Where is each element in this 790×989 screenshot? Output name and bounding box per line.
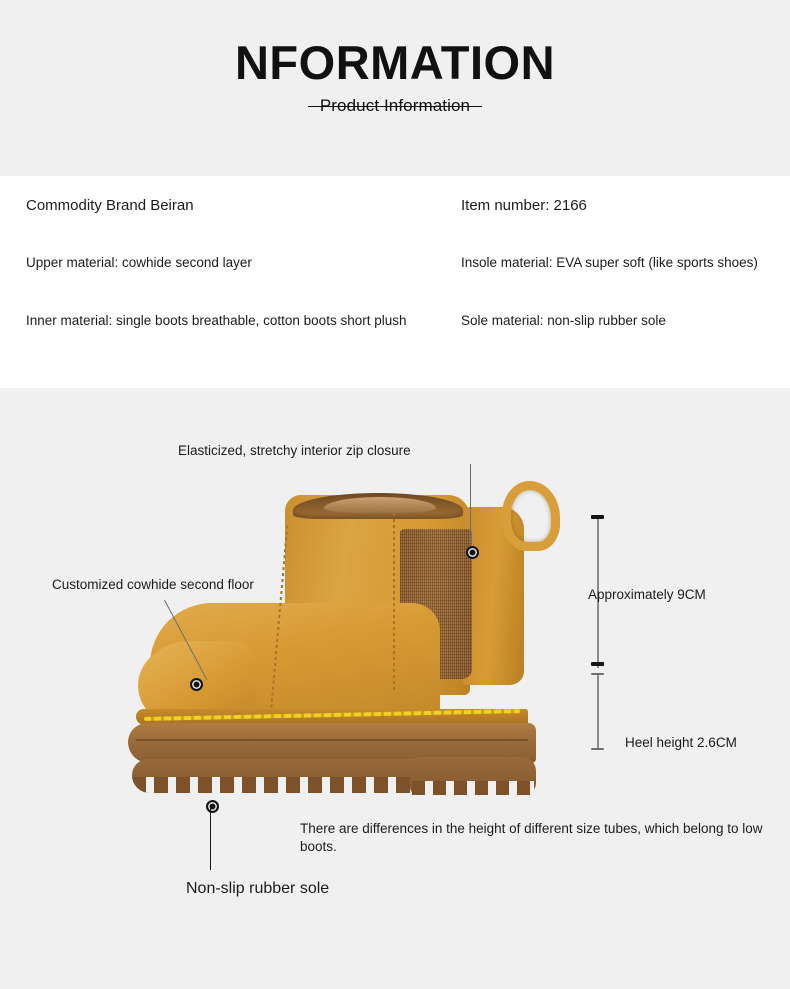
boot-product-image: [110, 473, 570, 833]
measurement-cap-shaft-top: [591, 515, 604, 519]
page-subtitle: Product Information: [308, 96, 482, 116]
annotation-cowhide: Customized cowhide second floor: [52, 576, 254, 594]
annotation-tube-note: There are differences in the height of d…: [300, 820, 770, 856]
page-subtitle-label: Product Information: [320, 96, 470, 115]
spec-inner-material: Inner material: single boots breathable,…: [26, 312, 426, 330]
annotation-zip-closure: Elasticized, stretchy interior zip closu…: [178, 442, 411, 460]
leader-line-zip-closure: [470, 464, 471, 550]
spec-sole-material: Sole material: non-slip rubber sole: [461, 312, 773, 330]
product-spec-table: Commodity Brand Beiran Item number: 2166…: [0, 176, 790, 388]
marker-dot-cowhide: [190, 678, 203, 691]
marker-dot-zip-closure: [466, 546, 479, 559]
boot-midsole-line: [136, 739, 528, 741]
measurement-cap-shaft-bottom: [591, 662, 604, 666]
annotation-rubber-sole: Non-slip rubber sole: [186, 878, 329, 900]
page-subtitle-wrapper: Product Information: [0, 96, 790, 116]
header-band: NFORMATION Product Information: [0, 0, 790, 176]
spec-brand: Commodity Brand Beiran: [26, 196, 426, 216]
measurement-label-heel: Heel height 2.6CM: [625, 735, 737, 750]
measurement-cap-heel-bottom: [591, 748, 604, 750]
marker-dot-rubber-sole: [206, 800, 219, 813]
measurement-line-heel: [597, 674, 599, 750]
spec-upper-material: Upper material: cowhide second layer: [26, 254, 426, 272]
measurement-label-shaft: Approximately 9CM: [588, 587, 706, 602]
measurement-cap-heel-top: [591, 673, 604, 675]
boot-inner-lining: [324, 497, 436, 513]
boot-pull-tab: [502, 481, 560, 551]
spec-insole-material: Insole material: EVA super soft (like sp…: [461, 254, 773, 272]
page-title: NFORMATION: [0, 38, 790, 87]
leader-line-rubber-sole: [210, 808, 211, 870]
boot-seam-stitch: [393, 513, 395, 693]
spec-item-number: Item number: 2166: [461, 196, 773, 216]
boot-heel-lugs: [412, 781, 534, 795]
product-diagram-section: Elasticized, stretchy interior zip closu…: [0, 388, 790, 989]
